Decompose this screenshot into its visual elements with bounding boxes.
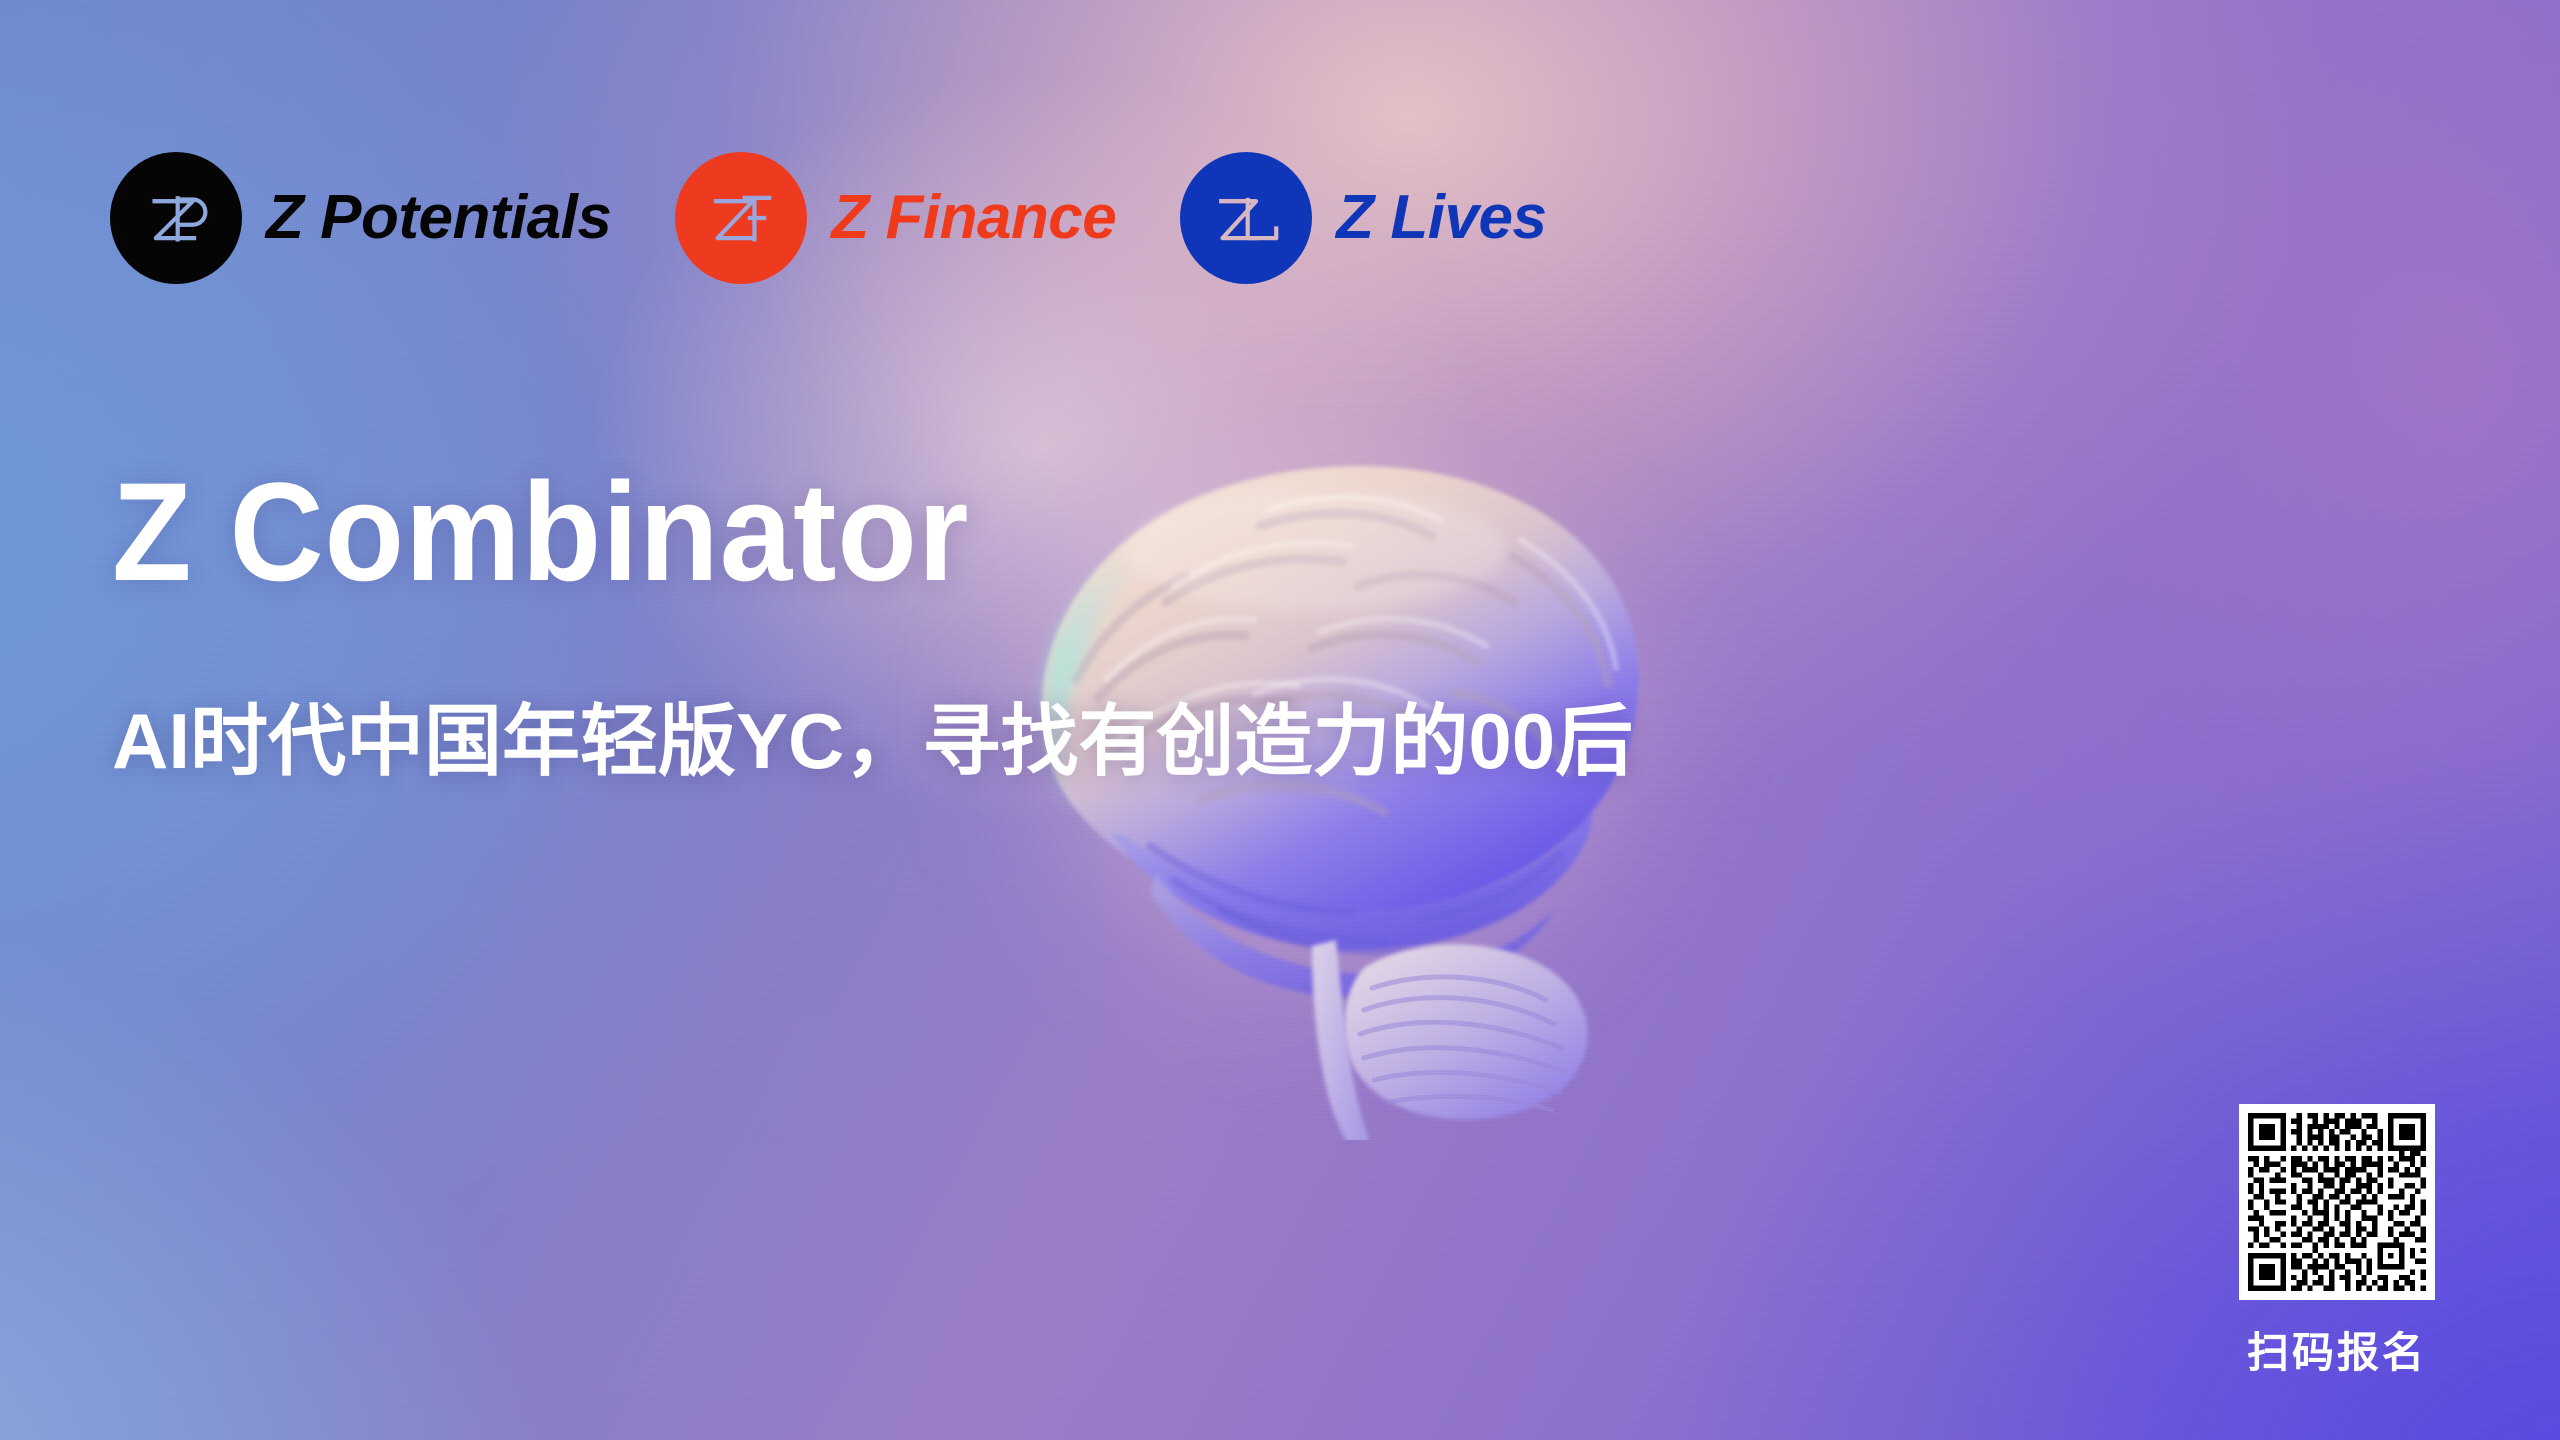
zp-monogram-icon	[110, 152, 242, 284]
brand-label-z-potentials: Z Potentials	[266, 187, 611, 249]
brand-label-z-finance: Z Finance	[831, 187, 1116, 249]
qr-registration-block[interactable]: 扫码报名	[2232, 1104, 2442, 1374]
qr-code-image[interactable]	[2239, 1104, 2435, 1300]
zf-monogram-icon	[675, 152, 807, 284]
brand-logo-row: Z Potentials Z Finance	[110, 150, 1546, 285]
brand-z-lives[interactable]: Z Lives	[1180, 152, 1546, 284]
poster-canvas: Z Potentials Z Finance	[0, 0, 2560, 1440]
headline-block: Z Combinator AI时代中国年轻版YC，寻找有创造力的00后	[112, 462, 2012, 602]
qr-caption: 扫码报名	[2247, 1332, 2427, 1374]
brand-z-potentials[interactable]: Z Potentials	[110, 152, 611, 284]
brand-z-finance[interactable]: Z Finance	[675, 152, 1116, 284]
page-title: Z Combinator	[112, 462, 1879, 602]
zl-monogram-icon	[1180, 152, 1312, 284]
page-subtitle: AI时代中国年轻版YC，寻找有创造力的00后	[112, 702, 1633, 780]
brand-label-z-lives: Z Lives	[1336, 187, 1546, 249]
